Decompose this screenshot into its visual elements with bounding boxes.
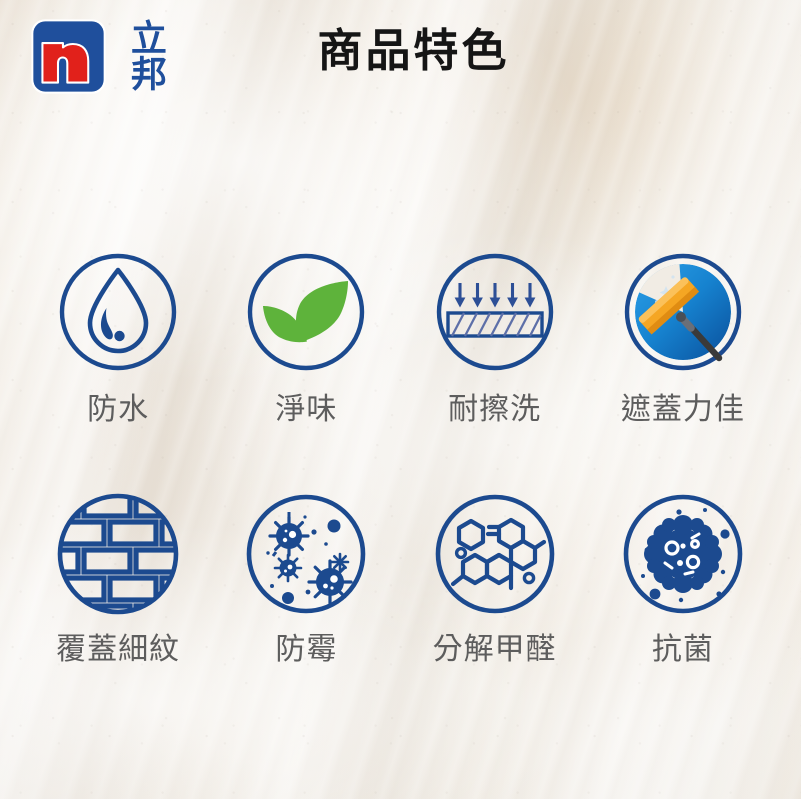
- feature-item-covers-hairline-cracks[interactable]: 覆蓋細紋: [24, 490, 212, 730]
- formaldehyde-molecule-icon: [431, 490, 559, 618]
- antibacterial-germ-icon: [619, 490, 747, 618]
- feature-label: 淨味: [275, 393, 337, 426]
- feature-label: 防霉: [275, 633, 337, 666]
- feature-grid: 防水 淨味: [24, 250, 777, 730]
- mold-spores-icon: [242, 490, 370, 618]
- green-leaves-checkmark-icon: [244, 250, 368, 374]
- paint-roller-coverage-icon: [621, 250, 745, 374]
- feature-item-antibacterial[interactable]: 抗菌: [589, 490, 777, 730]
- feature-item-mold-resistant[interactable]: 防霉: [212, 490, 400, 730]
- feature-label: 覆蓋細紋: [56, 633, 180, 666]
- feature-label: 耐擦洗: [448, 393, 541, 426]
- feature-label: 防水: [87, 393, 149, 426]
- feature-item-scrub-resistant[interactable]: 耐擦洗: [401, 250, 589, 490]
- scrub-arrows-surface-icon: [433, 250, 557, 374]
- feature-label: 分解甲醛: [433, 633, 557, 666]
- brick-wall-icon: [54, 490, 182, 618]
- product-features-page: 立邦 商品特色 防水: [0, 0, 801, 799]
- feature-label: 抗菌: [652, 633, 714, 666]
- feature-item-waterproof[interactable]: 防水: [24, 250, 212, 490]
- page-title: 商品特色: [0, 28, 801, 73]
- feature-item-decomposes-formaldehyde[interactable]: 分解甲醛: [401, 490, 589, 730]
- feature-item-high-coverage[interactable]: 遮蓋力佳: [589, 250, 777, 490]
- feature-item-odorless[interactable]: 淨味: [212, 250, 400, 490]
- page-header: 立邦 商品特色: [0, 0, 801, 118]
- feature-label: 遮蓋力佳: [621, 393, 745, 426]
- water-drop-icon: [56, 250, 180, 374]
